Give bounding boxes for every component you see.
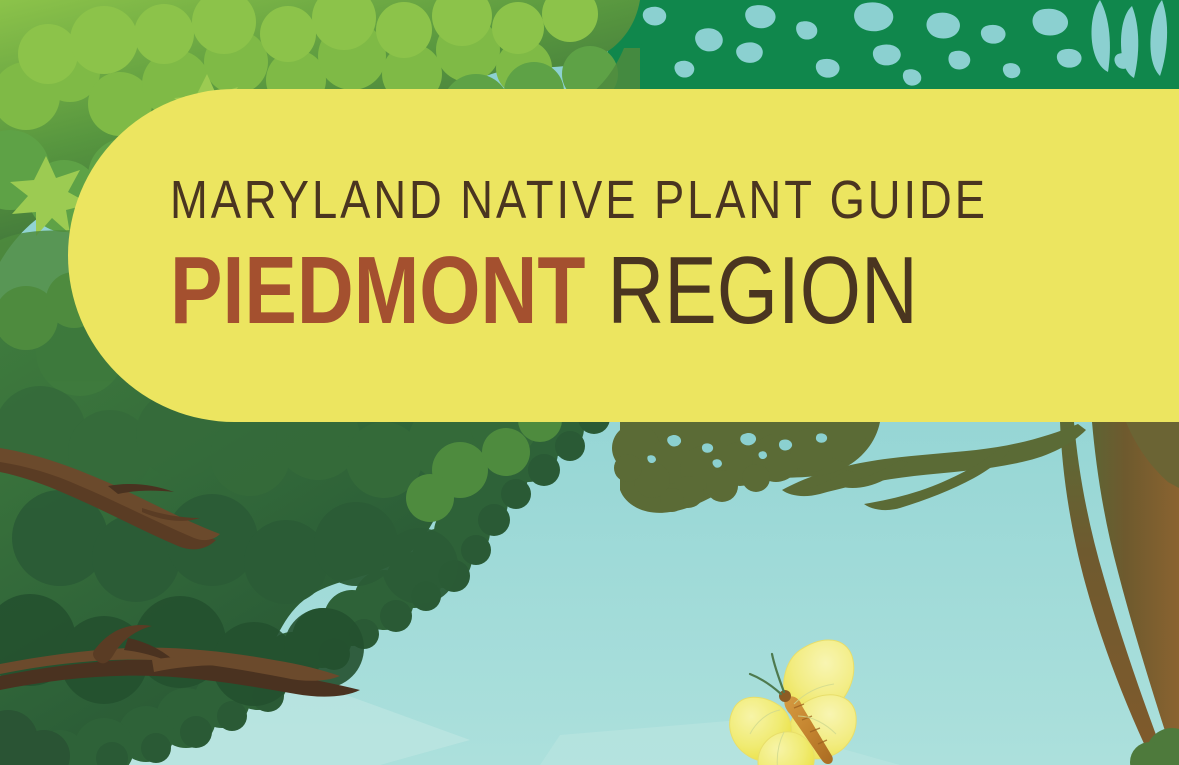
headline-line: PIEDMONT REGION <box>170 243 918 339</box>
headline-suffix-word: REGION <box>585 237 917 344</box>
headline-region-word: PIEDMONT <box>170 237 585 344</box>
title-banner: MARYLAND NATIVE PLANT GUIDE PIEDMONT REG… <box>68 89 1179 422</box>
butterfly <box>730 640 856 765</box>
poster-root: MARYLAND NATIVE PLANT GUIDE PIEDMONT REG… <box>0 0 1179 765</box>
butterfly-antennae <box>750 654 784 694</box>
guide-eyebrow-text: MARYLAND NATIVE PLANT GUIDE <box>170 173 988 227</box>
